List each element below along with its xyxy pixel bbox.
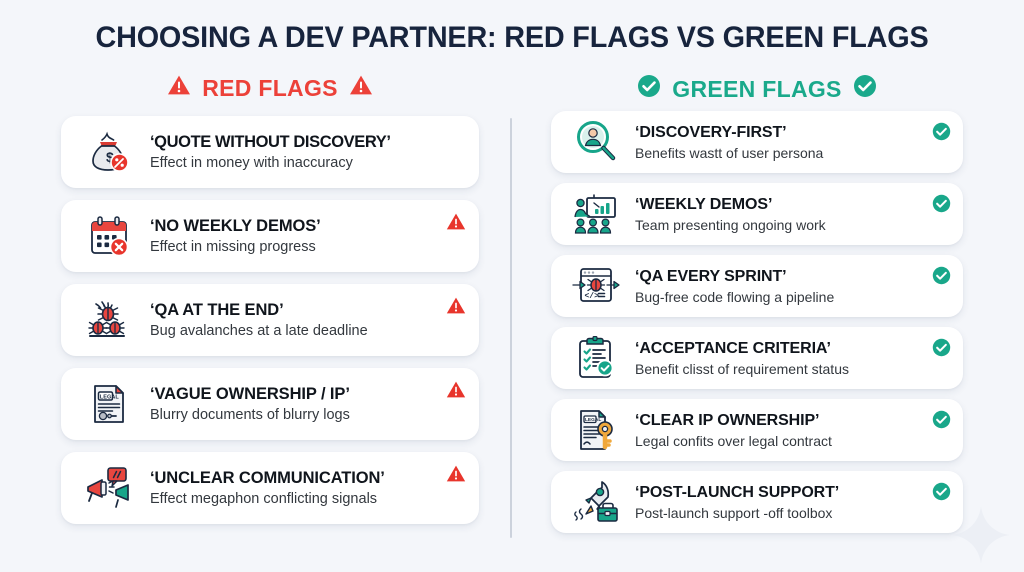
list-item-title: ‘UNCLEAR COMMUNICATION’ xyxy=(150,469,465,488)
green-flags-list: ‘DISCOVERY-FIRST’ Benefits wastt of user… xyxy=(551,111,963,533)
list-item-title: ‘QUOTE WITHOUT DISCOVERY’ xyxy=(150,133,465,152)
calendar-cross-icon xyxy=(78,208,140,264)
red-flags-label: RED FLAGS xyxy=(202,75,338,102)
svg-text:LEGAL: LEGAL xyxy=(585,417,601,423)
list-item[interactable]: LEGAL ‘VAGUE OWNERSHIP / IP’ Blurry docu… xyxy=(61,368,479,440)
list-item[interactable]: ‘NO WEEKLY DEMOS’ Effect in missing prog… xyxy=(61,200,479,272)
list-item[interactable]: </> ‘QA EVERY SPRINT’ Bug-free code flow… xyxy=(551,255,963,317)
list-item[interactable]: ‘DISCOVERY-FIRST’ Benefits wastt of user… xyxy=(551,111,963,173)
list-item-text: ‘QA AT THE END’ Bug avalanches at a late… xyxy=(150,301,465,339)
list-item-subtitle: Legal confits over legal contract xyxy=(635,433,949,449)
warning-triangle-icon xyxy=(167,74,191,102)
green-flags-label: GREEN FLAGS xyxy=(672,76,841,103)
list-item-subtitle: Benefit clisst of requirement status xyxy=(635,361,949,377)
list-item-title: ‘WEEKLY DEMOS’ xyxy=(635,196,949,214)
list-item[interactable]: $ ‘QUOTE WITHOUT DISCOVERY’ Effect in mo… xyxy=(61,116,479,188)
list-item-title: ‘NO WEEKLY DEMOS’ xyxy=(150,217,465,236)
legal-document-icon: LEGAL xyxy=(78,376,140,432)
warning-triangle-icon xyxy=(446,464,466,484)
warning-triangle-icon xyxy=(446,296,466,316)
code-bug-pipeline-icon: </> xyxy=(567,261,625,311)
list-item-text: ‘QA EVERY SPRINT’ Bug-free code flowing … xyxy=(635,268,949,305)
legal-key-icon: LEGAL xyxy=(567,405,625,455)
red-flags-column-header: RED FLAGS xyxy=(61,74,479,102)
list-item-subtitle: Blurry documents of blurry logs xyxy=(150,407,465,423)
list-item-text: ‘QUOTE WITHOUT DISCOVERY’ Effect in mone… xyxy=(150,133,465,171)
list-item[interactable]: ‘QA AT THE END’ Bug avalanches at a late… xyxy=(61,284,479,356)
presentation-team-icon xyxy=(567,189,625,239)
check-circle-icon xyxy=(932,482,951,501)
column-divider xyxy=(510,118,512,538)
page-title: CHOOSING A DEV PARTNER: RED FLAGS VS GRE… xyxy=(20,21,1003,55)
list-item-subtitle: Effect megaphon conflicting signals xyxy=(150,491,465,507)
list-item-subtitle: Post-launch support -off toolbox xyxy=(635,505,949,521)
warning-triangle-icon xyxy=(446,380,466,400)
list-item-subtitle: Bug avalanches at a late deadline xyxy=(150,323,465,339)
list-item-title: ‘QA EVERY SPRINT’ xyxy=(635,268,949,286)
list-item-title: ‘POST-LAUNCH SUPPORT’ xyxy=(635,484,949,502)
red-flags-list: $ ‘QUOTE WITHOUT DISCOVERY’ Effect in mo… xyxy=(61,116,479,524)
list-item[interactable]: ‘ACCEPTANCE CRITERIA’ Benefit clisst of … xyxy=(551,327,963,389)
clipboard-checklist-icon xyxy=(567,333,625,383)
list-item-title: ‘ACCEPTANCE CRITERIA’ xyxy=(635,340,949,358)
list-item-text: ‘POST-LAUNCH SUPPORT’ Post-launch suppor… xyxy=(635,484,949,521)
warning-triangle-icon xyxy=(446,212,466,232)
check-circle-icon xyxy=(932,338,951,357)
list-item-subtitle: Bug-free code flowing a pipeline xyxy=(635,289,949,305)
money-bag-percent-icon: $ xyxy=(78,124,140,180)
list-item-text: ‘WEEKLY DEMOS’ Team presenting ongoing w… xyxy=(635,196,949,233)
check-circle-icon xyxy=(932,410,951,429)
svg-text:LEGAL: LEGAL xyxy=(100,394,120,400)
megaphone-icon xyxy=(78,460,140,516)
list-item-title: ‘VAGUE OWNERSHIP / IP’ xyxy=(150,385,465,404)
list-item[interactable]: ‘POST-LAUNCH SUPPORT’ Post-launch suppor… xyxy=(551,471,963,533)
list-item-title: ‘DISCOVERY-FIRST’ xyxy=(635,124,949,142)
list-item[interactable]: ‘UNCLEAR COMMUNICATION’ Effect megaphon … xyxy=(61,452,479,524)
check-circle-icon xyxy=(932,122,951,141)
list-item-text: ‘DISCOVERY-FIRST’ Benefits wastt of user… xyxy=(635,124,949,161)
rocket-toolbox-icon xyxy=(567,477,625,527)
list-item-subtitle: Benefits wastt of user persona xyxy=(635,145,949,161)
svg-text:</>: </> xyxy=(585,292,600,301)
list-item-text: ‘VAGUE OWNERSHIP / IP’ Blurry documents … xyxy=(150,385,465,423)
magnifier-user-icon xyxy=(567,117,625,167)
green-flags-column-header: GREEN FLAGS xyxy=(551,74,963,104)
check-circle-icon xyxy=(853,74,877,104)
list-item-title: ‘QA AT THE END’ xyxy=(150,301,465,320)
warning-triangle-icon xyxy=(349,74,373,102)
list-item-subtitle: Team presenting ongoing work xyxy=(635,217,949,233)
list-item-text: ‘NO WEEKLY DEMOS’ Effect in missing prog… xyxy=(150,217,465,255)
check-circle-icon xyxy=(932,266,951,285)
list-item-subtitle: Effect in missing progress xyxy=(150,239,465,255)
check-circle-icon xyxy=(932,194,951,213)
list-item-subtitle: Effect in money with inaccuracy xyxy=(150,155,465,171)
list-item[interactable]: ‘WEEKLY DEMOS’ Team presenting ongoing w… xyxy=(551,183,963,245)
list-item[interactable]: LEGAL ‘CLEAR IP OWNERSHIP’ Legal confits… xyxy=(551,399,963,461)
list-item-text: ‘UNCLEAR COMMUNICATION’ Effect megaphon … xyxy=(150,469,465,507)
list-item-title: ‘CLEAR IP OWNERSHIP’ xyxy=(635,412,949,430)
bugs-icon xyxy=(78,292,140,348)
check-circle-icon xyxy=(637,74,661,104)
list-item-text: ‘CLEAR IP OWNERSHIP’ Legal confits over … xyxy=(635,412,949,449)
list-item-text: ‘ACCEPTANCE CRITERIA’ Benefit clisst of … xyxy=(635,340,949,377)
